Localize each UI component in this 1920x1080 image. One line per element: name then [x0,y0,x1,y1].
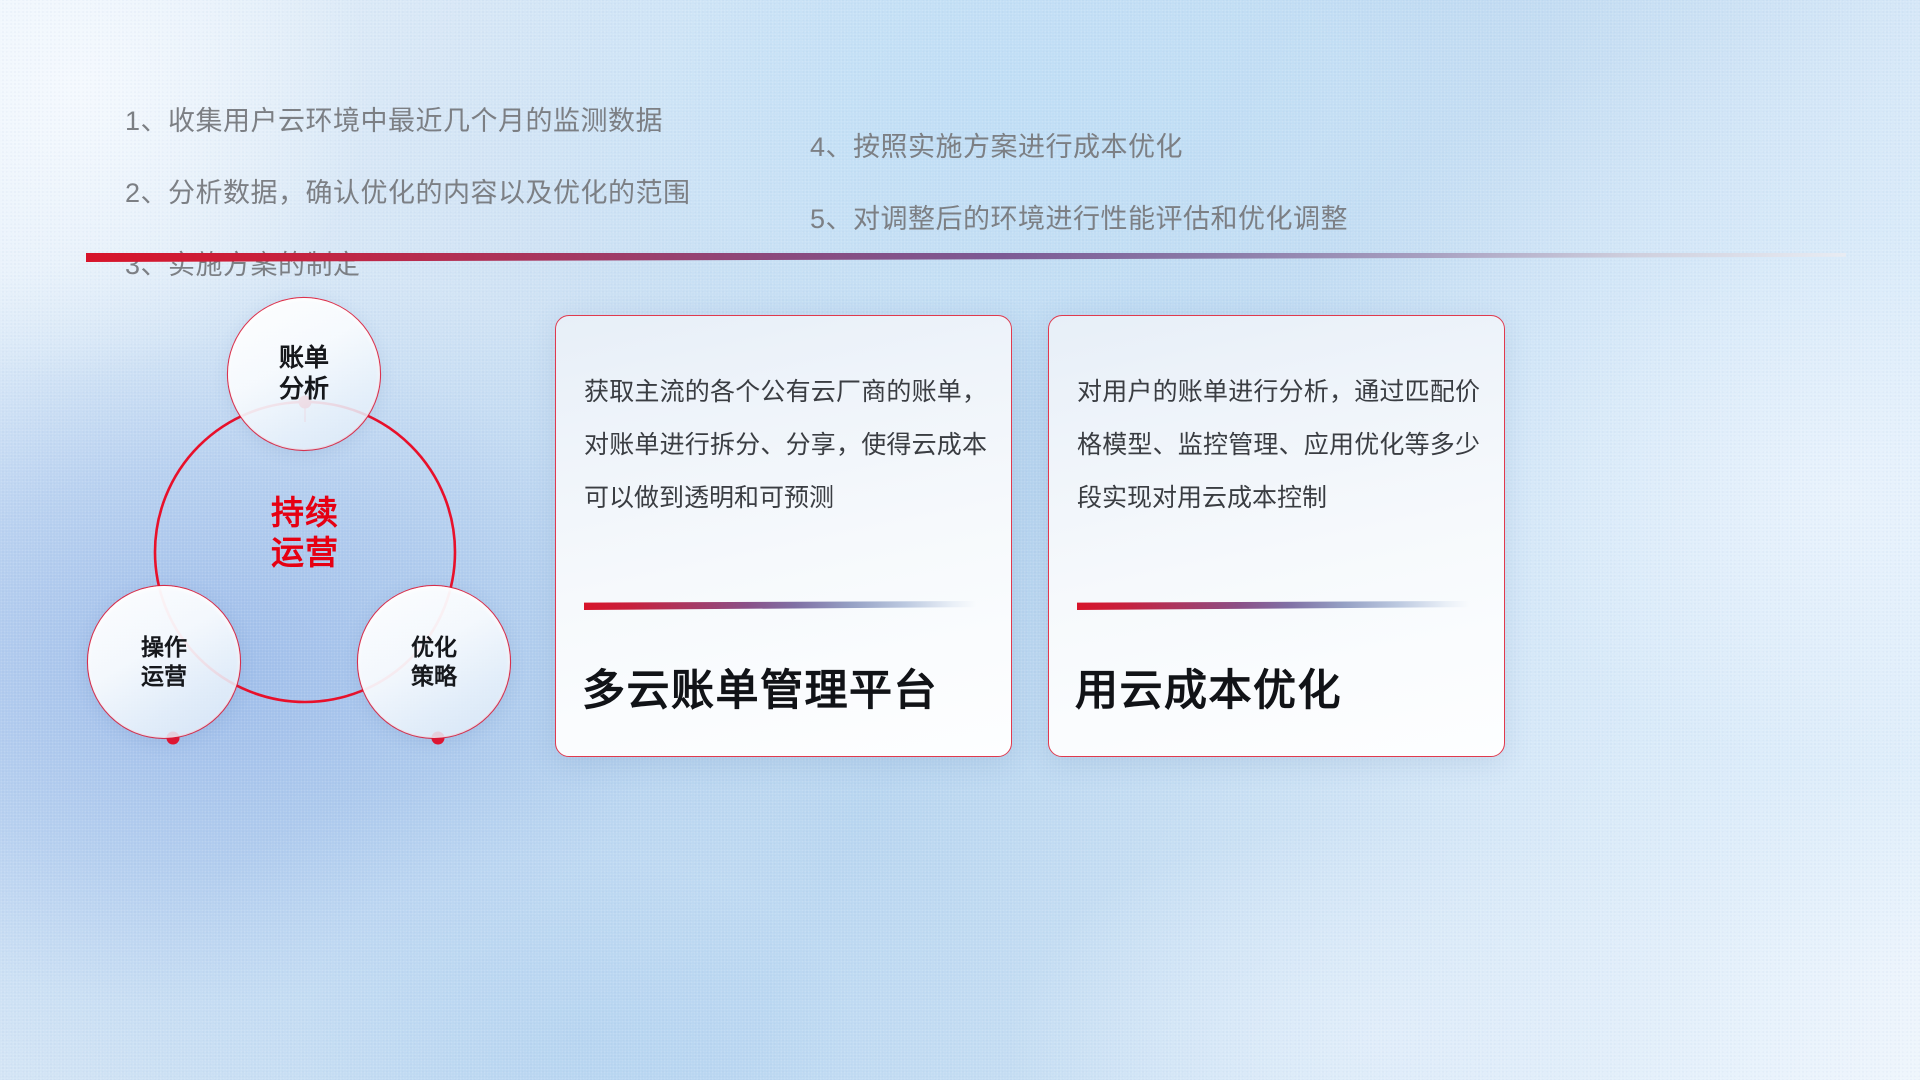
card-body-text: 获取主流的各个公有云厂商的账单，对账单进行拆分、分享，使得云成本可以做到透明和可… [584,366,987,525]
venn-center-label: 持续运营 [240,478,370,588]
step-item-4: 4、按照实施方案进行成本优化 [810,125,1348,164]
venn-bubble-label-optimization-strategy: 优化策略 [411,633,457,691]
card-body-text: 对用户的账单进行分析，通过匹配价格模型、监控管理、应用优化等多少段实现对用云成本… [1077,366,1480,525]
venn-diagram: 账单分析 操作运营 优化策略 持续运营 [70,290,570,770]
step-item-3: 3、实施方案的制定 [125,243,691,282]
steps-list-left: 1、收集用户云环境中最近几个月的监测数据 2、分析数据，确认优化的内容以及优化的… [125,99,691,315]
venn-bubble-optimization-strategy[interactable]: 优化策略 [358,586,510,738]
card-gradient-divider [584,601,976,610]
card-gradient-divider [1077,601,1469,610]
venn-bubble-label-bill-analysis: 账单分析 [279,343,329,406]
venn-bubble-operations[interactable]: 操作运营 [88,586,240,738]
card-title: 用云成本优化 [1075,656,1484,718]
step-item-5: 5、对调整后的环境进行性能评估和优化调整 [810,197,1348,236]
venn-center-text: 持续运营 [271,493,339,574]
card-multi-cloud-billing[interactable]: 获取主流的各个公有云厂商的账单，对账单进行拆分、分享，使得云成本可以做到透明和可… [555,315,1012,757]
venn-bubble-label-operations: 操作运营 [141,633,187,691]
step-item-1: 1、收集用户云环境中最近几个月的监测数据 [125,99,691,138]
step-item-2: 2、分析数据，确认优化的内容以及优化的范围 [125,171,691,210]
steps-list-right: 4、按照实施方案进行成本优化 5、对调整后的环境进行性能评估和优化调整 [810,125,1348,269]
card-cloud-cost-optimization[interactable]: 对用户的账单进行分析，通过匹配价格模型、监控管理、应用优化等多少段实现对用云成本… [1048,315,1505,757]
card-title: 多云账单管理平台 [582,656,991,718]
venn-bubble-bill-analysis[interactable]: 账单分析 [228,298,380,450]
